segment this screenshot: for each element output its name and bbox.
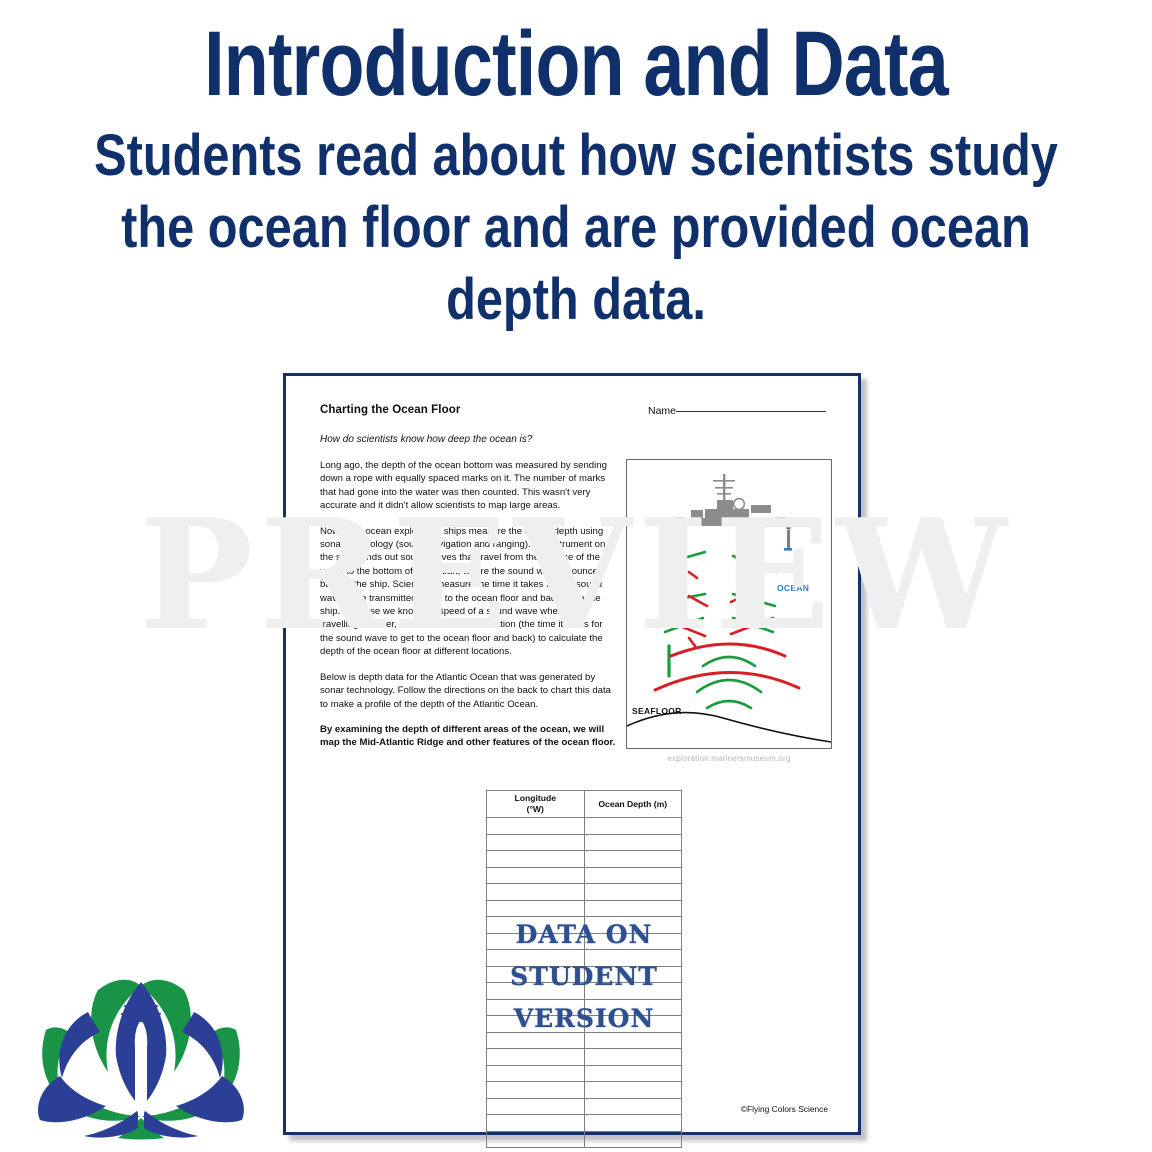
ship-icon: [675, 474, 786, 526]
cell-depth[interactable]: [584, 851, 682, 868]
cell-depth[interactable]: [584, 884, 682, 901]
seafloor-label: SEAFLOOR: [632, 706, 682, 716]
sonar-diagram: OCEAN SEAFLOOR: [626, 459, 832, 749]
table-row[interactable]: [487, 818, 682, 835]
cell-depth[interactable]: [584, 950, 682, 967]
peacock-lotus-logo: [28, 968, 254, 1143]
cell-longitude[interactable]: [487, 851, 585, 868]
cell-longitude[interactable]: [487, 834, 585, 851]
table-row[interactable]: [487, 1082, 682, 1099]
cell-depth[interactable]: [584, 1016, 682, 1033]
paragraph-2: Now most ocean exploration ships measure…: [320, 525, 616, 659]
cell-depth[interactable]: [584, 818, 682, 835]
table-row[interactable]: [487, 900, 682, 917]
paragraph-1: Long ago, the depth of the ocean bottom …: [320, 459, 616, 513]
depth-data-table: Longitude (°W) Ocean Depth (m): [486, 790, 682, 1148]
cell-depth[interactable]: [584, 1131, 682, 1148]
table-row[interactable]: [487, 999, 682, 1016]
name-field[interactable]: Name: [648, 405, 826, 417]
headline-block: Introduction and Data Students read abou…: [0, 0, 1152, 360]
cell-longitude[interactable]: [487, 1098, 585, 1115]
cell-depth[interactable]: [584, 1032, 682, 1049]
worksheet-figure-column: OCEAN SEAFLOOR exploration.marinersmuseu…: [626, 459, 832, 763]
table-row[interactable]: [487, 917, 682, 934]
table-row[interactable]: [487, 1049, 682, 1066]
cell-depth[interactable]: [584, 900, 682, 917]
figure-caption: exploration.marinersmuseum.org: [626, 754, 832, 763]
cell-longitude[interactable]: [487, 900, 585, 917]
table-row[interactable]: [487, 884, 682, 901]
cell-longitude[interactable]: [487, 1082, 585, 1099]
peacock-lotus-logo-svg: [28, 968, 254, 1143]
cell-longitude[interactable]: [487, 867, 585, 884]
cell-depth[interactable]: [584, 1098, 682, 1115]
paragraph-bold: By examining the depth of different area…: [320, 723, 616, 750]
cell-depth[interactable]: [584, 1082, 682, 1099]
cell-longitude[interactable]: [487, 1049, 585, 1066]
cell-depth[interactable]: [584, 983, 682, 1000]
cell-longitude[interactable]: [487, 1032, 585, 1049]
seafloor-curve: [627, 713, 831, 742]
cell-depth[interactable]: [584, 834, 682, 851]
longitude-line2: (°W): [527, 804, 544, 814]
cell-depth[interactable]: [584, 917, 682, 934]
cell-depth[interactable]: [584, 1065, 682, 1082]
worksheet-page: Charting the Ocean Floor Name How do sci…: [283, 373, 861, 1135]
sonar-arrow-icon: [735, 532, 756, 576]
cell-longitude[interactable]: [487, 1016, 585, 1033]
table-row[interactable]: [487, 1098, 682, 1115]
depth-data-table-wrap: Longitude (°W) Ocean Depth (m) DATA ON S…: [486, 790, 682, 1148]
cell-depth[interactable]: [584, 1049, 682, 1066]
worksheet-question: How do scientists know how deep the ocea…: [320, 434, 832, 445]
table-row[interactable]: [487, 966, 682, 983]
table-row[interactable]: [487, 867, 682, 884]
cell-longitude[interactable]: [487, 950, 585, 967]
table-header-depth: Ocean Depth (m): [584, 791, 682, 818]
depth-table-body: [487, 818, 682, 1148]
cell-longitude[interactable]: [487, 983, 585, 1000]
worksheet-title: Charting the Ocean Floor: [320, 404, 460, 416]
cell-longitude[interactable]: [487, 966, 585, 983]
cell-depth[interactable]: [584, 1115, 682, 1132]
table-row[interactable]: [487, 950, 682, 967]
paragraph-3: Below is depth data for the Atlantic Oce…: [320, 671, 616, 711]
cell-longitude[interactable]: [487, 999, 585, 1016]
cell-longitude[interactable]: [487, 1115, 585, 1132]
outgoing-wave: [663, 552, 777, 708]
worksheet-text-column: Long ago, the depth of the ocean bottom …: [320, 459, 616, 763]
cell-depth[interactable]: [584, 933, 682, 950]
table-row[interactable]: [487, 933, 682, 950]
table-header-longitude: Longitude (°W): [487, 791, 585, 818]
cell-longitude[interactable]: [487, 818, 585, 835]
name-underline: [676, 411, 826, 412]
page-title: Introduction and Data: [115, 0, 1037, 112]
sonar-diagram-svg: [627, 460, 831, 746]
worksheet-footer: ©Flying Colors Science: [741, 1104, 828, 1114]
table-header-row: Longitude (°W) Ocean Depth (m): [487, 791, 682, 818]
worksheet-header: Charting the Ocean Floor Name: [320, 404, 832, 417]
longitude-line1: Longitude: [514, 793, 556, 803]
ocean-label: OCEAN: [777, 583, 809, 593]
table-row[interactable]: [487, 834, 682, 851]
table-row[interactable]: [487, 1032, 682, 1049]
cell-depth[interactable]: [584, 999, 682, 1016]
name-label: Name: [648, 405, 676, 417]
table-row[interactable]: [487, 1016, 682, 1033]
table-row[interactable]: [487, 851, 682, 868]
cell-depth[interactable]: [584, 966, 682, 983]
cell-depth[interactable]: [584, 867, 682, 884]
instrument-icons: [666, 524, 792, 553]
table-row[interactable]: [487, 1115, 682, 1132]
cell-longitude[interactable]: [487, 917, 585, 934]
table-row[interactable]: [487, 1131, 682, 1148]
cell-longitude[interactable]: [487, 933, 585, 950]
table-row[interactable]: [487, 1065, 682, 1082]
cell-longitude[interactable]: [487, 1131, 585, 1148]
logo-peacock-head: [137, 1014, 145, 1022]
logo-peacock-body: [135, 1020, 148, 1118]
table-row[interactable]: [487, 983, 682, 1000]
page-subtitle: Students read about how scientists study…: [92, 112, 1060, 336]
cell-longitude[interactable]: [487, 884, 585, 901]
cell-longitude[interactable]: [487, 1065, 585, 1082]
